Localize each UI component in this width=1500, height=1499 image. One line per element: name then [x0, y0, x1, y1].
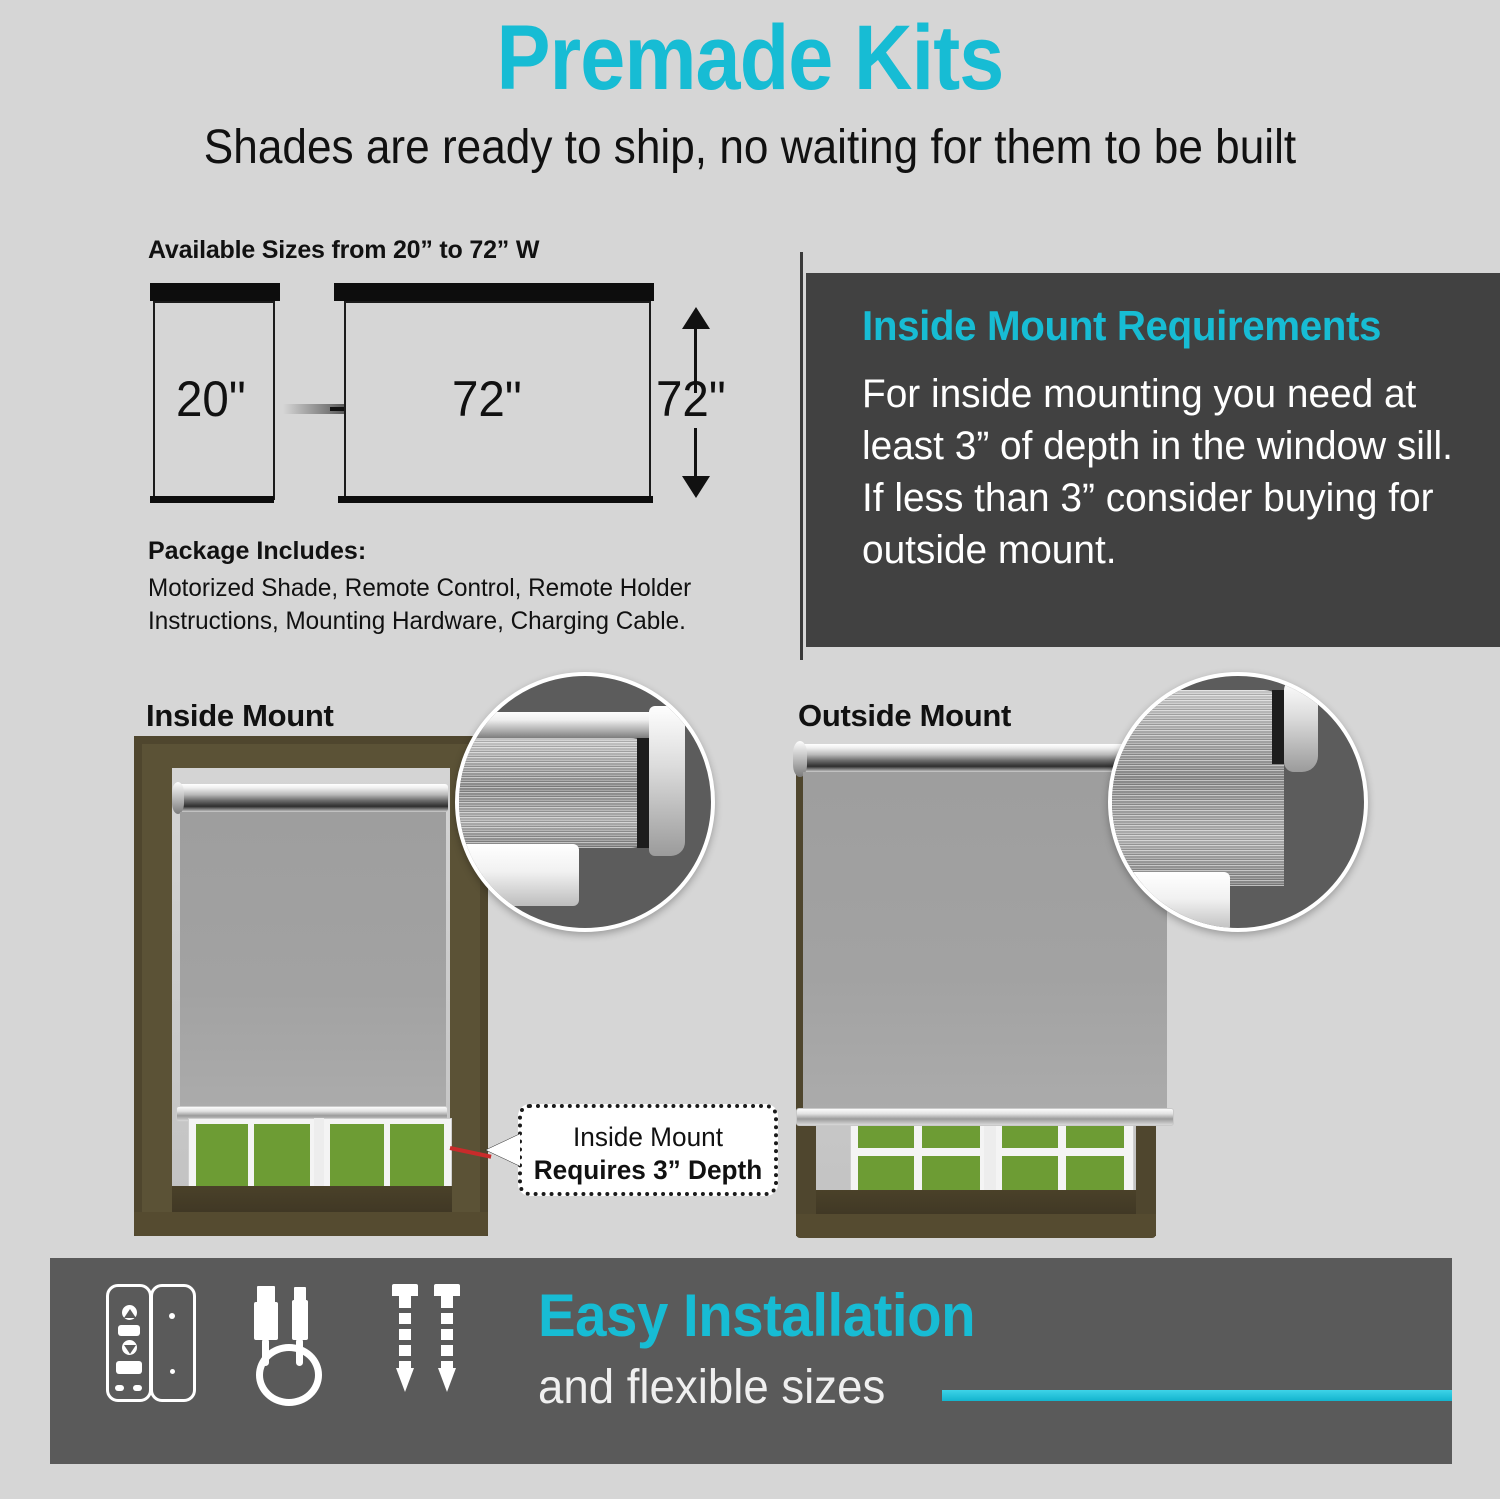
usb-cable-loop — [256, 1344, 322, 1406]
usb-a-tip — [257, 1286, 275, 1303]
screw-2-tip — [438, 1368, 456, 1392]
inside-roller-tube — [176, 784, 448, 812]
small-shade-width-label: 20" — [176, 370, 246, 428]
detail-shade-fabric-texture — [455, 738, 649, 848]
inside-roller-endcap-left — [172, 782, 184, 814]
package-includes-heading: Package Includes: — [148, 537, 366, 566]
small-shade-headrail — [150, 283, 280, 301]
usb-micro-tip — [294, 1287, 306, 1301]
glass-pane-1 — [196, 1124, 248, 1194]
screws-icon — [390, 1284, 470, 1400]
large-shade-width-label: 72" — [452, 370, 522, 428]
outside-detail-fabric-texture — [1108, 690, 1284, 886]
usb-micro-connector — [292, 1300, 308, 1340]
screw-1-thread-2 — [395, 1324, 415, 1329]
inside-mount-label: Inside Mount — [146, 698, 334, 734]
usb-a-connector — [254, 1302, 278, 1340]
callout-line-2: Requires 3” Depth — [526, 1153, 770, 1188]
outside-shade-hembar — [796, 1108, 1174, 1126]
callout-line-1: Inside Mount — [526, 1120, 770, 1155]
screw-2-thread-4 — [437, 1356, 457, 1361]
remote-stop-button — [118, 1325, 140, 1336]
screw-1 — [390, 1284, 420, 1400]
height-arrow-head-down — [682, 476, 710, 498]
screw-1-head — [392, 1284, 418, 1296]
requirements-body: For inside mounting you need at least 3”… — [862, 368, 1463, 576]
banner-accent-rule — [942, 1390, 1452, 1401]
screw-1-tip — [396, 1368, 414, 1392]
screw-2-thread-3 — [437, 1340, 457, 1345]
height-dimension-line-lower — [694, 428, 697, 478]
screw-1-thread-3 — [395, 1340, 415, 1345]
detail-mounting-bracket — [649, 706, 685, 856]
remote-up-arrow-glyph — [124, 1309, 136, 1318]
large-shade-headrail — [334, 283, 654, 301]
infographic-canvas: Premade Kits Shades are ready to ship, n… — [0, 0, 1500, 1499]
outside-detail-mounting-bracket — [1284, 680, 1318, 772]
remote-prev-glyph — [115, 1385, 124, 1391]
small-shade-bottombar — [150, 496, 274, 503]
inside-mount-callout: Inside Mount Requires 3” Depth — [518, 1104, 778, 1196]
outside-window-sill-lip — [796, 1214, 1156, 1238]
remote-holder-screw-hole-bottom — [170, 1369, 175, 1374]
screw-2-thread-1 — [437, 1308, 457, 1313]
glass-pane-3 — [330, 1124, 384, 1194]
requirements-title: Inside Mount Requirements — [862, 302, 1381, 350]
screw-1-thread-1 — [395, 1308, 415, 1313]
shade-height-label: 72" — [656, 370, 726, 428]
outside-detail-bottom-roll — [1108, 872, 1230, 932]
outside-mount-detail-bubble — [1108, 672, 1368, 932]
screw-2-thread-2 — [437, 1324, 457, 1329]
banner-title: Easy Installation — [538, 1281, 975, 1350]
remote-control-icon — [106, 1284, 152, 1402]
outside-mount-label: Outside Mount — [798, 698, 1011, 734]
available-sizes-heading: Available Sizes from 20” to 72” W — [148, 236, 539, 265]
remote-channel-button — [116, 1361, 142, 1374]
large-shade-bottombar — [338, 496, 653, 503]
remote-holder-icon — [150, 1284, 196, 1402]
package-includes-contents: Motorized Shade, Remote Control, Remote … — [148, 572, 769, 638]
remote-down-arrow-glyph — [124, 1345, 136, 1354]
window-sill-lip — [134, 1212, 488, 1236]
screw-1-thread-4 — [395, 1356, 415, 1361]
banner-subtitle: and flexible sizes — [538, 1360, 885, 1415]
screw-2-head — [434, 1284, 460, 1296]
charging-cable-icon — [250, 1284, 340, 1400]
inside-mount-detail-bubble — [455, 672, 715, 932]
remote-next-glyph — [133, 1385, 142, 1391]
callout-pointer-tip — [486, 1134, 520, 1166]
glass-pane-4 — [390, 1124, 444, 1194]
page-subtitle: Shades are ready to ship, no waiting for… — [60, 120, 1440, 175]
detail-tube-top — [455, 712, 669, 738]
glass-pane-2 — [254, 1124, 310, 1194]
height-arrow-head-up — [682, 307, 710, 329]
detail-bottom-roll — [455, 844, 579, 906]
page-title: Premade Kits — [90, 10, 1410, 107]
remote-holder-screw-hole-top — [169, 1313, 175, 1319]
requirements-divider — [800, 252, 803, 660]
screw-2 — [432, 1284, 462, 1400]
inside-shade-fabric — [180, 812, 446, 1108]
